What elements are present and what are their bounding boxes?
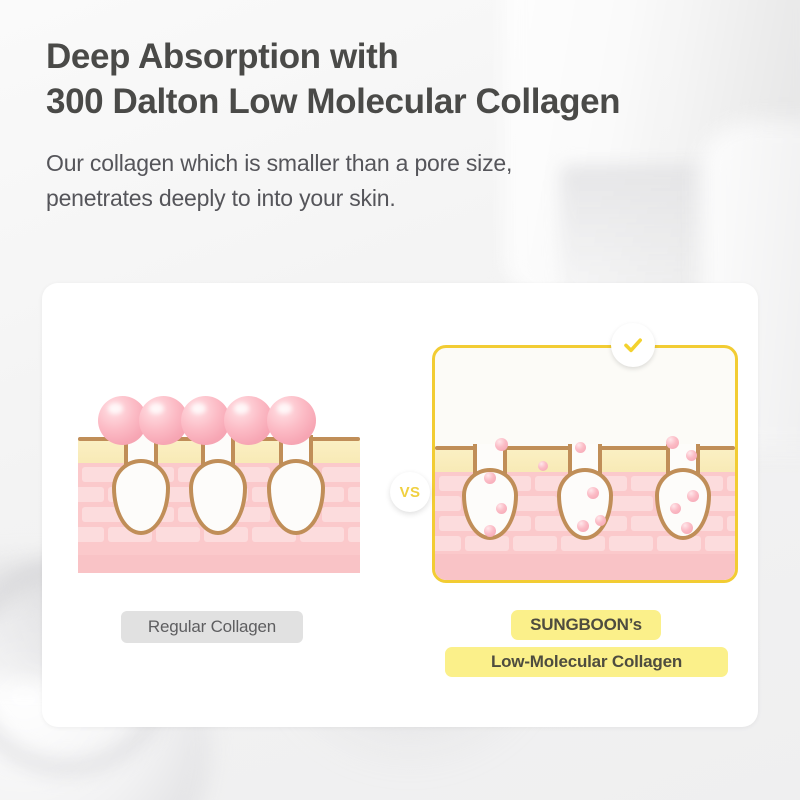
regular-collagen-illustration: [78, 393, 360, 573]
comparison-card: VS Regular Collagen SUNGBOON’s Low-Molec…: [42, 283, 758, 727]
collagen-molecule-small: [587, 487, 599, 499]
check-badge: [611, 323, 655, 367]
pore-bulb: [267, 459, 325, 535]
brick: [78, 527, 104, 542]
brick: [609, 536, 653, 551]
collagen-molecule-small: [577, 520, 589, 532]
sungboon-caption-line2: Low-Molecular Collagen: [445, 647, 728, 677]
collagen-molecule-small: [687, 490, 699, 502]
hypodermis-layer: [78, 555, 360, 573]
pore-bulb: [112, 459, 170, 535]
collagen-molecule-large: [267, 396, 316, 445]
header-block: Deep Absorption with 300 Dalton Low Mole…: [46, 34, 766, 216]
page-title-line1: Deep Absorption with: [46, 34, 766, 79]
collagen-molecule-small: [484, 472, 496, 484]
brick: [727, 476, 735, 491]
brick: [322, 467, 360, 482]
pore: [189, 435, 247, 541]
collagen-molecule-small: [595, 515, 606, 526]
sungboon-caption-line1: SUNGBOON’s: [511, 610, 661, 640]
brick: [513, 536, 557, 551]
collagen-molecule-small: [538, 461, 548, 471]
brick: [609, 496, 653, 511]
collagen-molecule-small: [681, 522, 693, 534]
pore: [267, 435, 325, 541]
brick: [435, 496, 461, 511]
brick: [348, 487, 360, 502]
collagen-molecule-small: [670, 503, 681, 514]
collagen-molecule-large: [181, 396, 230, 445]
brick: [78, 487, 104, 502]
low-molecular-collagen-frame: [432, 345, 738, 583]
brick: [513, 496, 557, 511]
collagen-molecule-small: [686, 450, 697, 461]
pore: [112, 435, 170, 541]
page-title-line2: 300 Dalton Low Molecular Collagen: [46, 79, 766, 124]
vs-badge: VS: [390, 472, 430, 512]
collagen-molecule-small: [575, 442, 586, 453]
page-subtitle-line1: Our collagen which is smaller than a por…: [46, 146, 766, 181]
brick: [348, 527, 360, 542]
pore-bulb: [189, 459, 247, 535]
check-icon: [621, 333, 645, 357]
collagen-molecule-large: [224, 396, 273, 445]
regular-collagen-caption: Regular Collagen: [121, 611, 303, 643]
collagen-molecule-small: [484, 525, 496, 537]
page-subtitle-line2: penetrates deeply to into your skin.: [46, 181, 766, 216]
hypodermis-layer: [435, 554, 735, 580]
brick: [322, 507, 360, 522]
brick: [727, 516, 735, 531]
collagen-molecule-small: [496, 503, 507, 514]
collagen-molecule-small: [495, 438, 508, 451]
brick: [435, 536, 461, 551]
collagen-molecule-small: [666, 436, 679, 449]
